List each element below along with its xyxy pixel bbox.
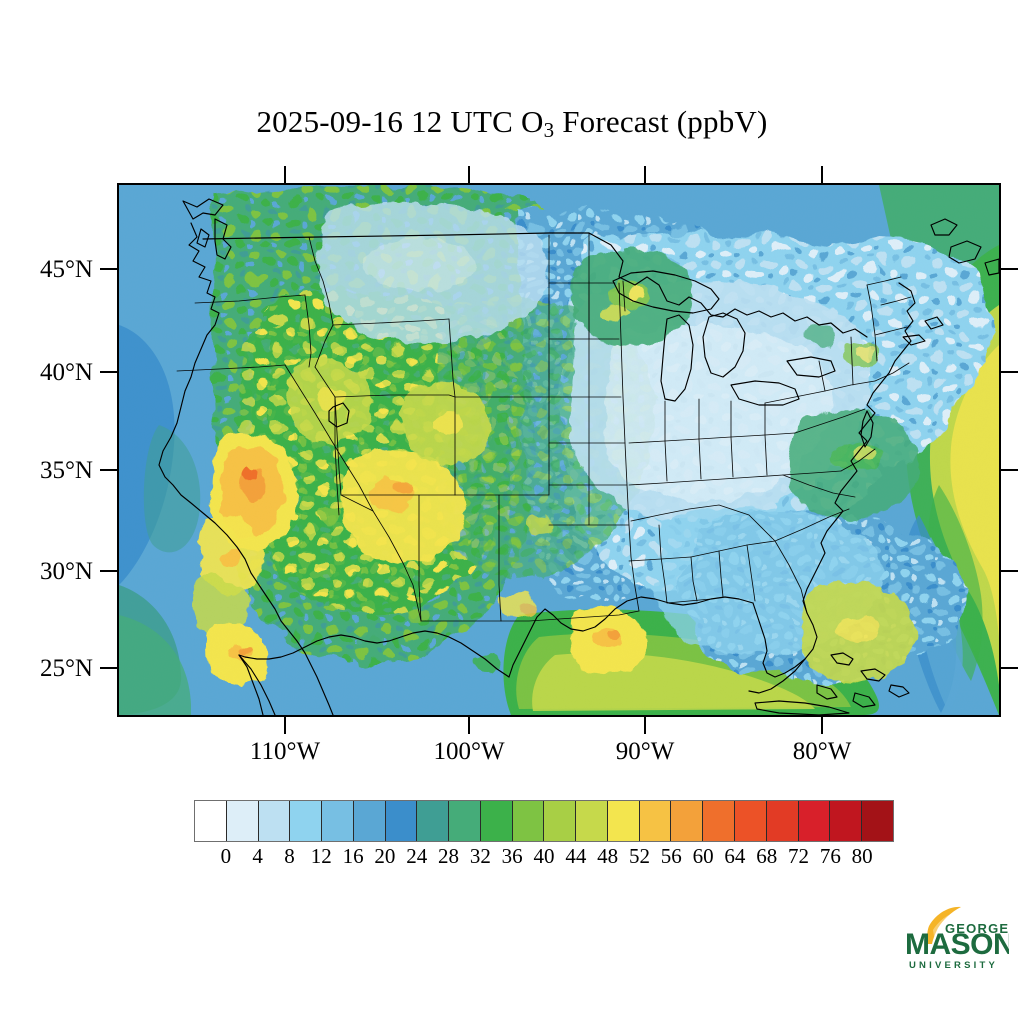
- colorbar-tick-8: 8: [284, 844, 295, 869]
- lon-label-100w: 100°W: [404, 738, 534, 766]
- lon-tick-80w-top: [821, 166, 823, 183]
- colorbar-tick-20: 20: [374, 844, 395, 869]
- lon-tick-90w-top: [644, 166, 646, 183]
- colorbar-swatch-13: [608, 801, 640, 841]
- lon-label-110w: 110°W: [220, 738, 350, 766]
- colorbar-swatch-4: [322, 801, 354, 841]
- lat-label-30n: 30°N: [18, 558, 93, 586]
- colorbar-swatch-2: [259, 801, 291, 841]
- colorbar-tick-80: 80: [852, 844, 873, 869]
- colorbar-swatch-0: [195, 801, 227, 841]
- colorbar-tick-4: 4: [252, 844, 263, 869]
- title-subscript: 3: [544, 118, 555, 142]
- lon-tick-110w-bottom: [284, 717, 286, 734]
- colorbar-tick-0: 0: [221, 844, 232, 869]
- svg-text:UNIVERSITY: UNIVERSITY: [909, 960, 998, 971]
- lon-tick-80w-bottom: [821, 717, 823, 734]
- page-title: 2025-09-16 12 UTC O3 Forecast (ppbV): [0, 104, 1024, 140]
- george-mason-university-logo: MASON GEORGE UNIVERSITY: [903, 906, 1009, 972]
- colorbar-swatch-20: [830, 801, 862, 841]
- colorbar-swatch-21: [862, 801, 893, 841]
- lat-label-40n: 40°N: [18, 359, 93, 387]
- colorbar-tick-52: 52: [629, 844, 650, 869]
- lat-tick-40n-left: [100, 371, 117, 373]
- lat-tick-40n-right: [1001, 371, 1018, 373]
- colorbar-tick-60: 60: [693, 844, 714, 869]
- colorbar-tick-44: 44: [565, 844, 586, 869]
- lat-tick-25n-left: [100, 667, 117, 669]
- lon-tick-100w-bottom: [468, 717, 470, 734]
- colorbar-swatch-3: [290, 801, 322, 841]
- colorbar-swatch-8: [449, 801, 481, 841]
- colorbar-swatch-18: [767, 801, 799, 841]
- colorbar-swatch-1: [227, 801, 259, 841]
- colorbar-swatch-10: [513, 801, 545, 841]
- lat-tick-30n-left: [100, 570, 117, 572]
- colorbar-tick-64: 64: [724, 844, 745, 869]
- lat-label-45n: 45°N: [18, 256, 93, 284]
- colorbar-tick-28: 28: [438, 844, 459, 869]
- colorbar-swatch-6: [386, 801, 418, 841]
- colorbar-tick-68: 68: [756, 844, 777, 869]
- lat-tick-35n-left: [100, 469, 117, 471]
- colorbar-swatch-19: [799, 801, 831, 841]
- colorbar-tick-12: 12: [311, 844, 332, 869]
- colorbar-swatch-5: [354, 801, 386, 841]
- colorbar-tick-36: 36: [502, 844, 523, 869]
- lon-tick-110w-top: [284, 166, 286, 183]
- colorbar-swatch-15: [671, 801, 703, 841]
- lat-tick-25n-right: [1001, 667, 1018, 669]
- colorbar-tick-72: 72: [788, 844, 809, 869]
- lat-label-35n: 35°N: [18, 457, 93, 485]
- lat-tick-35n-right: [1001, 469, 1018, 471]
- ozone-forecast-map[interactable]: [117, 183, 1001, 717]
- colorbar-tick-76: 76: [820, 844, 841, 869]
- lon-tick-100w-top: [468, 166, 470, 183]
- colorbar-tick-48: 48: [597, 844, 618, 869]
- lat-tick-30n-right: [1001, 570, 1018, 572]
- figure-canvas: 2025-09-16 12 UTC O3 Forecast (ppbV): [0, 0, 1024, 1024]
- colorbar-swatch-7: [417, 801, 449, 841]
- colorbar-swatch-14: [640, 801, 672, 841]
- lat-tick-45n-right: [1001, 268, 1018, 270]
- colorbar-swatch-17: [735, 801, 767, 841]
- colorbar-swatch-16: [703, 801, 735, 841]
- colorbar[interactable]: 048121620242832364044485256606468727680: [194, 800, 894, 842]
- colorbar-tick-40: 40: [534, 844, 555, 869]
- colorbar-tick-16: 16: [343, 844, 364, 869]
- svg-text:GEORGE: GEORGE: [945, 921, 1009, 936]
- lat-tick-45n-left: [100, 268, 117, 270]
- colorbar-tick-32: 32: [470, 844, 491, 869]
- colorbar-tick-labels: 048121620242832364044485256606468727680: [194, 844, 894, 874]
- colorbar-swatch-9: [481, 801, 513, 841]
- lon-tick-90w-bottom: [644, 717, 646, 734]
- colorbar-tick-24: 24: [406, 844, 427, 869]
- colorbar-swatch-12: [576, 801, 608, 841]
- lat-label-25n: 25°N: [18, 655, 93, 683]
- lon-label-90w: 90°W: [585, 738, 705, 766]
- lon-label-80w: 80°W: [762, 738, 882, 766]
- colorbar-swatch-11: [544, 801, 576, 841]
- colorbar-swatches[interactable]: [194, 800, 894, 842]
- title-prefix: 2025-09-16 12 UTC O: [256, 104, 543, 139]
- colorbar-tick-56: 56: [661, 844, 682, 869]
- title-suffix: Forecast (ppbV): [554, 104, 767, 139]
